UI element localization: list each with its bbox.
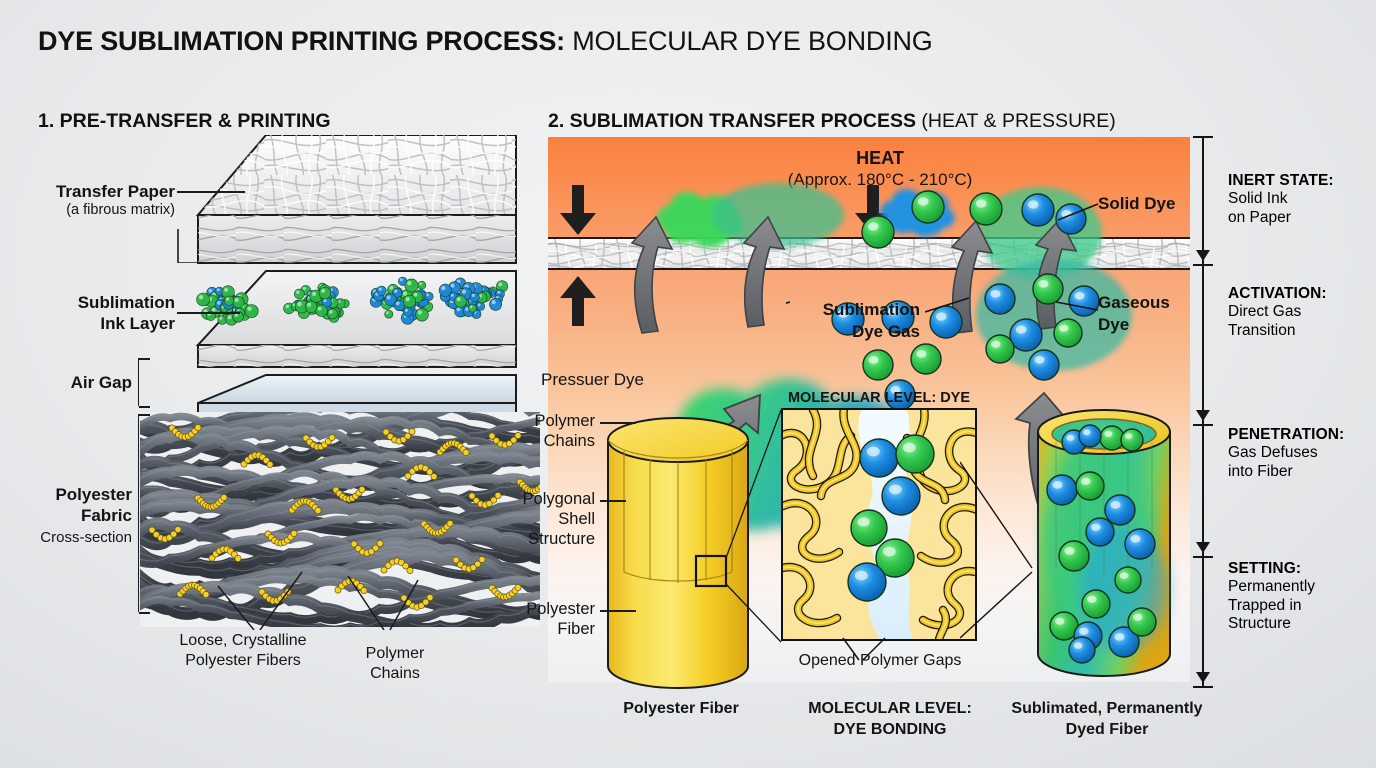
caption-inset-1: MOLECULAR LEVEL: bbox=[790, 700, 990, 719]
inset-polymer-network bbox=[783, 410, 975, 639]
timeline-stage-3-head: SETTING: bbox=[1228, 560, 1376, 578]
caption-dyed-fiber-1: Sublimated, Permanently bbox=[1000, 700, 1214, 719]
timeline-stage-2-line1: Gas Defuses bbox=[1228, 444, 1376, 462]
label-polygonal-2: Shell bbox=[500, 510, 595, 529]
label-sublimation-ink-2: Ink Layer bbox=[0, 314, 175, 334]
label-polyester-fabric-sub: Cross-section bbox=[0, 529, 132, 546]
label-fiber-polymer-chains-1: Polymer bbox=[500, 412, 595, 431]
timeline-stage-2-line2: into Fiber bbox=[1228, 463, 1376, 481]
label-right-polyester-fiber-1: Polyester bbox=[500, 600, 595, 619]
leader-sublimation-ink bbox=[177, 312, 240, 314]
label-gaseous-dye-2: Dye bbox=[1098, 315, 1129, 335]
label-polygonal-3: Structure bbox=[500, 530, 595, 549]
timeline-stage-0-line2: on Paper bbox=[1228, 209, 1376, 227]
timeline-stage-1-line2: Transition bbox=[1228, 322, 1376, 340]
timeline-stage-2: PENETRATION: Gas Defuses into Fiber bbox=[1228, 426, 1376, 481]
label-gaseous-dye-1: Gaseous bbox=[1098, 293, 1170, 313]
infographic-root: DYE SUBLIMATION PRINTING PROCESS: MOLECU… bbox=[0, 0, 1376, 768]
timeline-stage-3-line2: Trapped in bbox=[1228, 597, 1376, 615]
leader-gaseous-dye bbox=[1052, 296, 1102, 322]
stage-timeline bbox=[1202, 136, 1214, 688]
section-heading-right: 2. SUBLIMATION TRANSFER PROCESS (HEAT & … bbox=[548, 110, 1116, 133]
page-title-light: MOLECULAR DYE BONDING bbox=[565, 26, 933, 56]
molecular-level-inset bbox=[781, 408, 977, 641]
label-solid-dye: Solid Dye bbox=[1098, 194, 1175, 214]
bracket-polyester-fabric bbox=[138, 414, 139, 612]
callout-loose-fibers-1: Loose, Crystalline bbox=[148, 632, 338, 651]
label-polyester-fabric-2: Fabric bbox=[0, 506, 132, 526]
timeline-stage-0-head: INERT STATE: bbox=[1228, 172, 1376, 190]
dyed-fiber-leaders bbox=[960, 440, 1050, 660]
label-air-gap: Air Gap bbox=[0, 373, 132, 393]
exploded-stack-paper-ink bbox=[140, 135, 540, 425]
timeline-stage-0: INERT STATE: Solid Ink on Paper bbox=[1228, 172, 1376, 227]
label-right-polyester-fiber-2: Fiber bbox=[500, 620, 595, 639]
callout-polymer-chains-1: Polymer bbox=[330, 645, 460, 664]
label-fiber-polymer-chains-2: Chains bbox=[500, 432, 595, 451]
section-heading-left: 1. PRE-TRANSFER & PRINTING bbox=[38, 110, 331, 133]
label-sublimation-ink-1: Sublimation bbox=[0, 293, 175, 313]
timeline-stage-3: SETTING: Permanently Trapped in Structur… bbox=[1228, 560, 1376, 633]
leader-solid-dye bbox=[1052, 196, 1102, 222]
caption-polyester-fiber: Polyester Fiber bbox=[598, 700, 764, 719]
timeline-stage-3-line1: Permanently bbox=[1228, 578, 1376, 596]
timeline-stage-3-line3: Structure bbox=[1228, 615, 1376, 633]
label-polygonal-1: Polygonal bbox=[500, 490, 595, 509]
timeline-stage-1: ACTIVATION: Direct Gas Transition bbox=[1228, 285, 1376, 340]
leader-right-polyester-fiber bbox=[600, 610, 636, 612]
timeline-stage-1-line1: Direct Gas bbox=[1228, 303, 1376, 321]
leader-sublimation-gas bbox=[786, 300, 846, 326]
leader-sublimation-gas-right bbox=[925, 296, 973, 322]
label-opened-gaps: Opened Polymer Gaps bbox=[780, 652, 980, 671]
callout-loose-fibers-2: Polyester Fibers bbox=[148, 652, 338, 671]
leader-fiber-polymer-chains bbox=[600, 422, 636, 424]
timeline-stage-0-line1: Solid Ink bbox=[1228, 190, 1376, 208]
label-pressure-dye: Pressuer Dye bbox=[541, 370, 644, 390]
section-heading-right-sub: (HEAT & PRESSURE) bbox=[916, 110, 1116, 132]
leader-transfer-paper-edge bbox=[118, 191, 248, 263]
leader-polygonal bbox=[600, 500, 626, 502]
section-heading-right-main: 2. SUBLIMATION TRANSFER PROCESS bbox=[548, 110, 916, 132]
caption-inset-2: DYE BONDING bbox=[790, 721, 990, 740]
bracket-air-gap bbox=[138, 358, 139, 406]
timeline-stage-2-head: PENETRATION: bbox=[1228, 426, 1376, 444]
timeline-stage-1-head: ACTIVATION: bbox=[1228, 285, 1376, 303]
page-title-bold: DYE SUBLIMATION PRINTING PROCESS: bbox=[38, 26, 565, 56]
page-title: DYE SUBLIMATION PRINTING PROCESS: MOLECU… bbox=[38, 26, 933, 57]
caption-dyed-fiber-2: Dyed Fiber bbox=[1000, 721, 1214, 740]
label-polyester-fabric-1: Polyester bbox=[0, 485, 132, 505]
callout-polymer-chains-2: Chains bbox=[330, 665, 460, 684]
callout-lines-left bbox=[180, 520, 440, 630]
dyed-fiber-cylinder bbox=[1028, 398, 1188, 684]
